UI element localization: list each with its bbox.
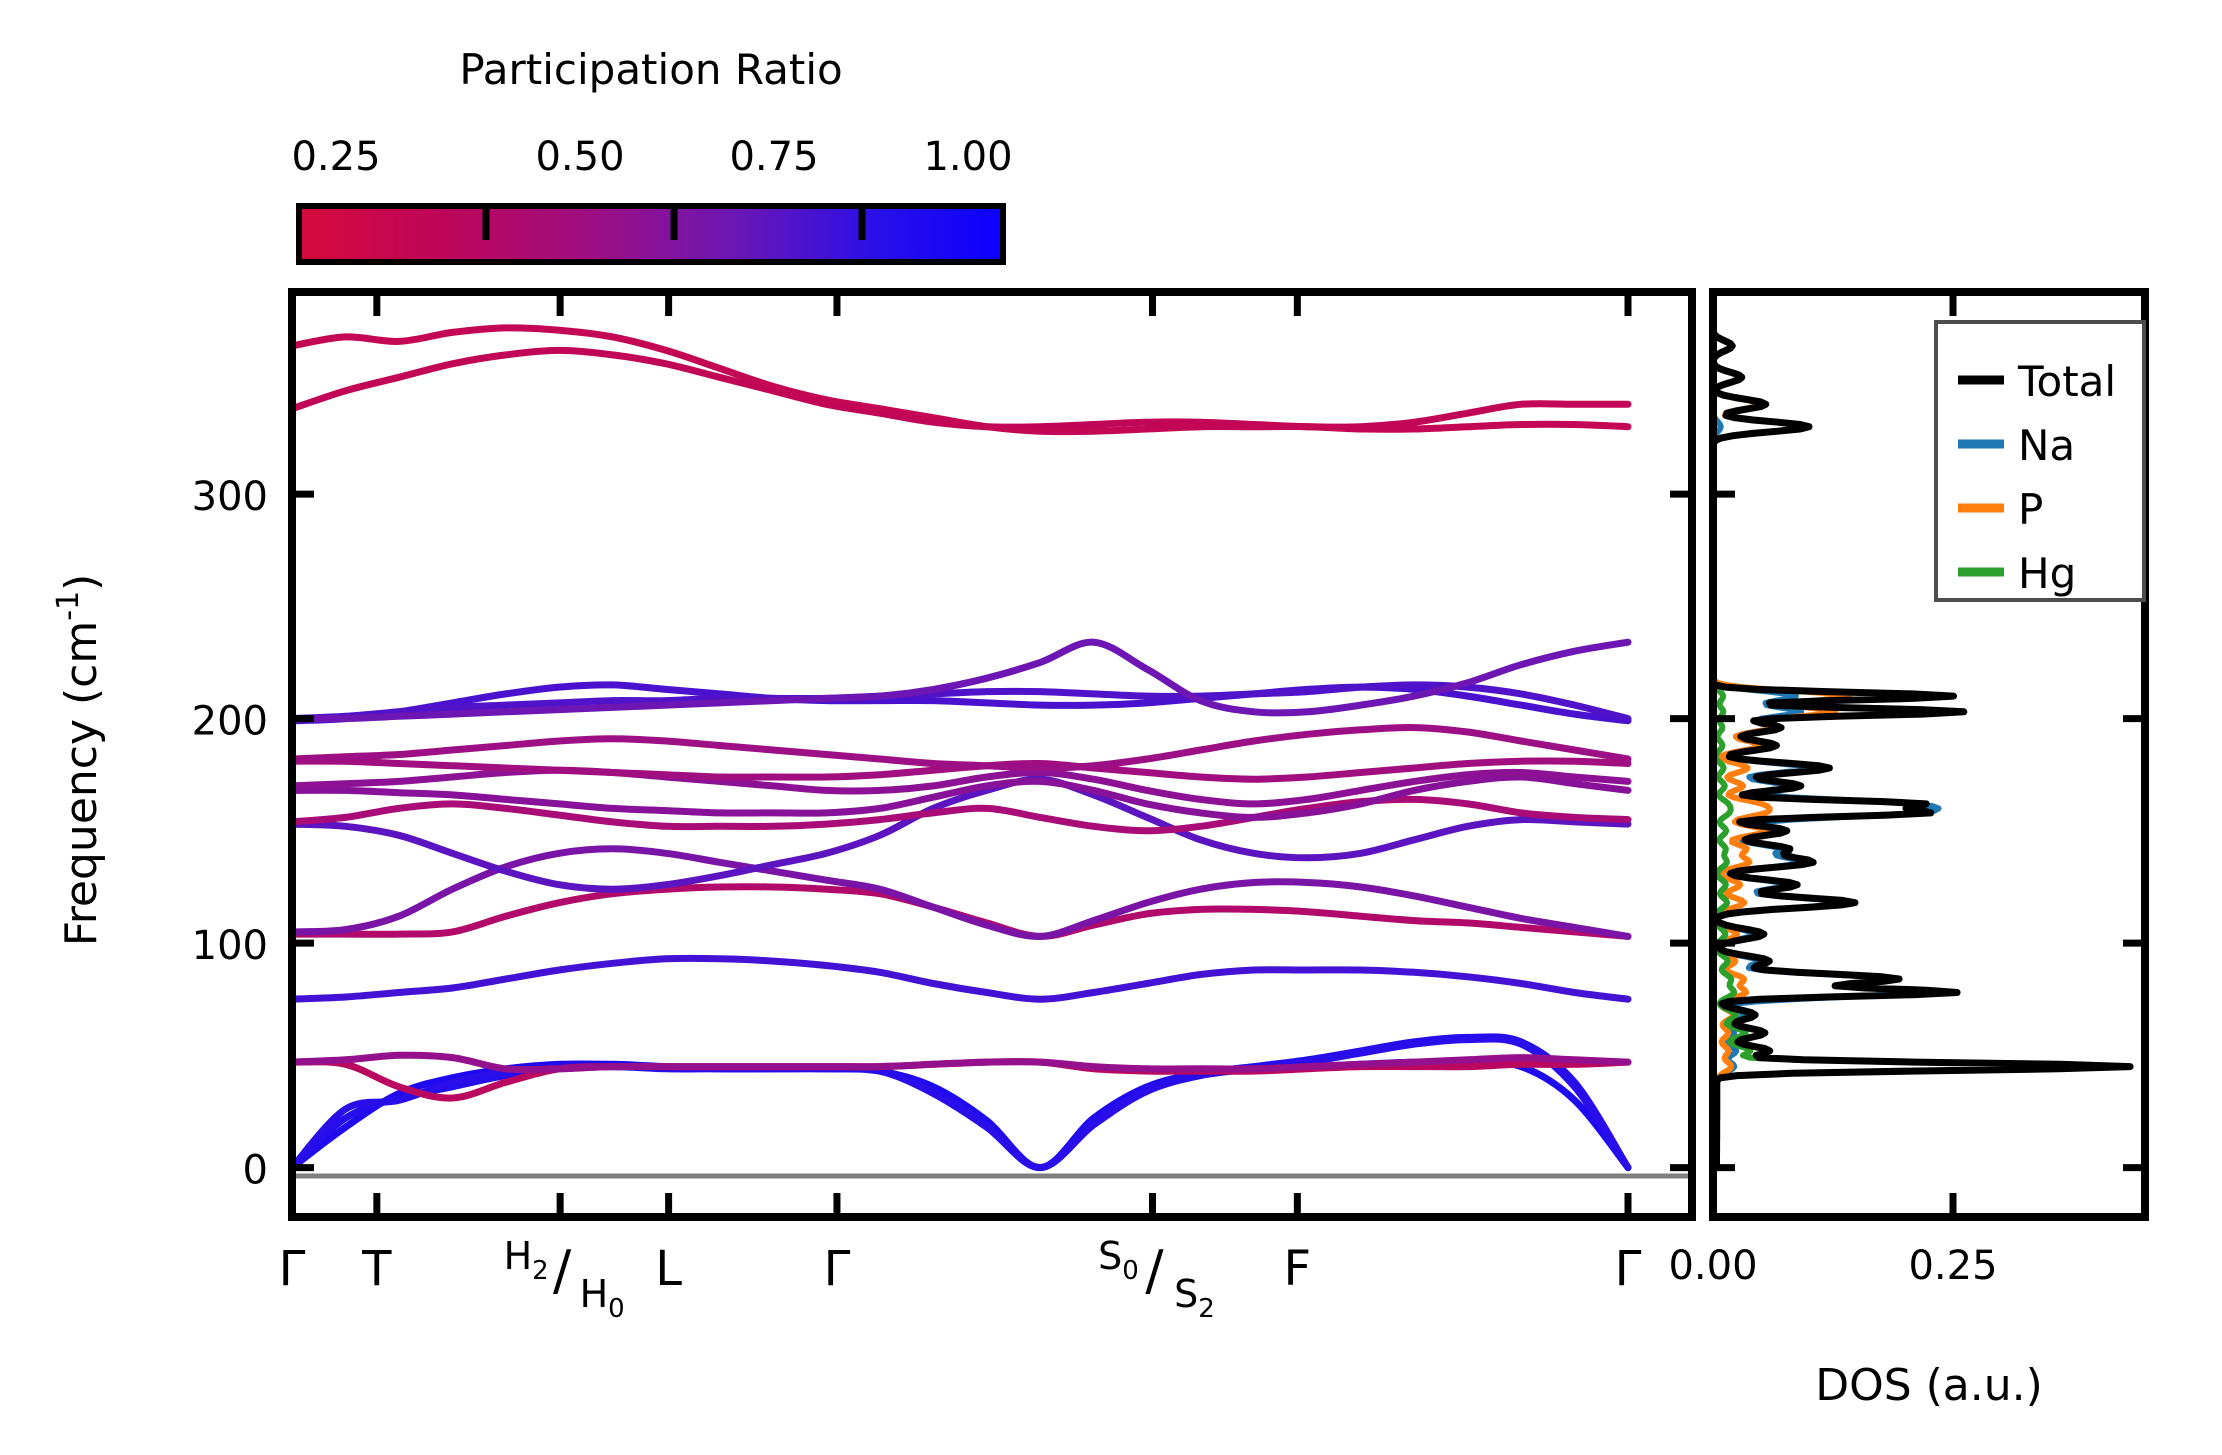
dos-x-tick-labels: 0.000.25 xyxy=(1668,1243,1997,1289)
y-tick-label: 200 xyxy=(192,699,268,745)
svg-text:Frequency (cm-1): Frequency (cm-1) xyxy=(51,574,107,947)
x-tick-label-slash: / xyxy=(1145,1239,1164,1302)
x-tick-label-denominator: H0 xyxy=(580,1272,625,1324)
y-axis-label-main: Frequency (cm xyxy=(56,621,107,947)
x-tick-label: Γ xyxy=(824,1241,851,1297)
x-tick-label-fraction: S0/S2 xyxy=(1098,1234,1215,1324)
y-axis-label-close: ) xyxy=(56,574,107,591)
x-tick-label: L xyxy=(655,1241,682,1297)
y-tick-label: 300 xyxy=(192,474,268,520)
legend-label-total: Total xyxy=(2017,357,2116,406)
x-tick-label-slash: / xyxy=(553,1239,572,1302)
colorbar-group: Participation Ratio 0.25 0.50 0.75 1.00 xyxy=(291,45,1012,262)
y-axis-label-exponent: -1 xyxy=(51,591,86,621)
phonon-figure-svg: Participation Ratio 0.25 0.50 0.75 1.00 … xyxy=(0,0,2222,1455)
figure-canvas: Participation Ratio 0.25 0.50 0.75 1.00 … xyxy=(0,0,2222,1455)
x-tick-label: T xyxy=(361,1241,392,1297)
x-tick-label-denominator: S2 xyxy=(1174,1272,1215,1324)
colorbar-tick-label-2: 0.75 xyxy=(729,134,818,180)
legend-label-p: P xyxy=(2018,485,2043,534)
x-tick-label: F xyxy=(1284,1241,1312,1297)
colorbar-tick-label-1: 0.50 xyxy=(535,134,624,180)
dos-x-tick-label: 0.25 xyxy=(1908,1243,1997,1289)
colorbar-gradient[interactable] xyxy=(299,206,1003,262)
legend-label-na: Na xyxy=(2018,421,2075,470)
x-tick-label-numerator: S0 xyxy=(1098,1234,1139,1286)
dos-x-tick-label: 0.00 xyxy=(1668,1243,1757,1289)
y-tick-label: 0 xyxy=(243,1148,268,1194)
x-tick-label-numerator: H2 xyxy=(504,1234,549,1286)
dos-axis-label: DOS (a.u.) xyxy=(1815,1360,2043,1411)
colorbar-tick-label-3: 1.00 xyxy=(923,134,1012,180)
bands-x-tick-labels: ΓTH2/H0LΓS0/S2FΓ xyxy=(279,1234,1642,1324)
x-tick-label: Γ xyxy=(279,1241,306,1297)
colorbar-title: Participation Ratio xyxy=(459,45,842,94)
dos-legend[interactable]: TotalNaPHg xyxy=(1936,322,2144,600)
bands-y-tick-labels: 0100200300 xyxy=(192,474,268,1194)
dos-panel: 0.000.25 DOS (a.u.) TotalNaPHg xyxy=(1668,292,2145,1411)
x-tick-label: Γ xyxy=(1615,1241,1642,1297)
bands-panel: 0100200300 ΓTH2/H0LΓS0/S2FΓ xyxy=(192,292,1692,1324)
colorbar-tick-label-0: 0.25 xyxy=(291,134,380,180)
y-axis-label-group: Frequency (cm-1) xyxy=(51,574,107,947)
x-tick-label-fraction: H2/H0 xyxy=(504,1234,625,1324)
legend-label-hg: Hg xyxy=(2018,549,2076,598)
y-tick-label: 100 xyxy=(192,923,268,969)
